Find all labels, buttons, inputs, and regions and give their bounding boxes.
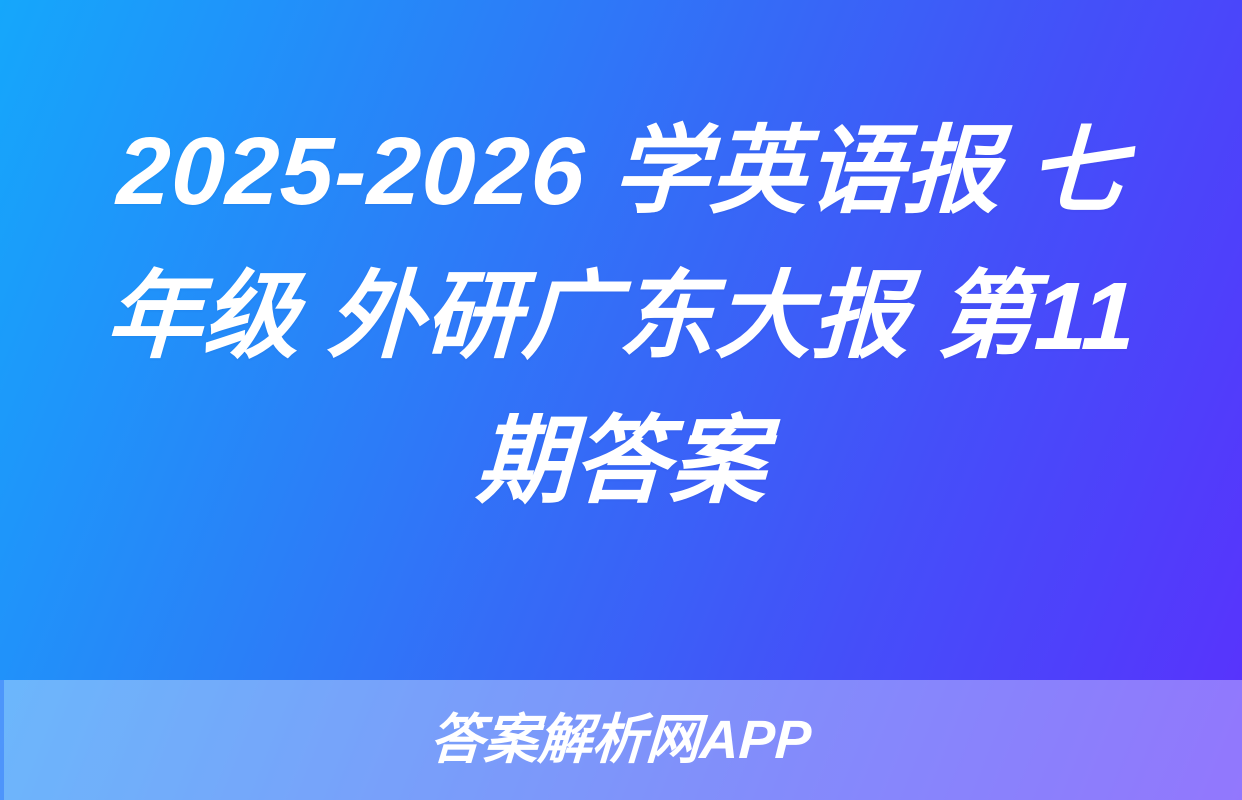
poster-canvas: 2025-2026 学英语报 七 年级 外研广东大报 第11 期答案 答案解析网… xyxy=(0,0,1242,800)
band-left-edge-accent xyxy=(0,680,4,800)
page-title-line-2: 年级 外研广东大报 第11 xyxy=(103,244,1138,389)
page-title-line-3: 期答案 xyxy=(473,389,769,534)
page-title-line-1: 2025-2026 学英语报 七 xyxy=(114,99,1128,244)
app-watermark-label: 答案解析网APP xyxy=(429,711,813,769)
footer-watermark-band: 答案解析网APP xyxy=(0,680,1242,800)
poster-title-block: 2025-2026 学英语报 七 年级 外研广东大报 第11 期答案 xyxy=(0,0,1242,680)
